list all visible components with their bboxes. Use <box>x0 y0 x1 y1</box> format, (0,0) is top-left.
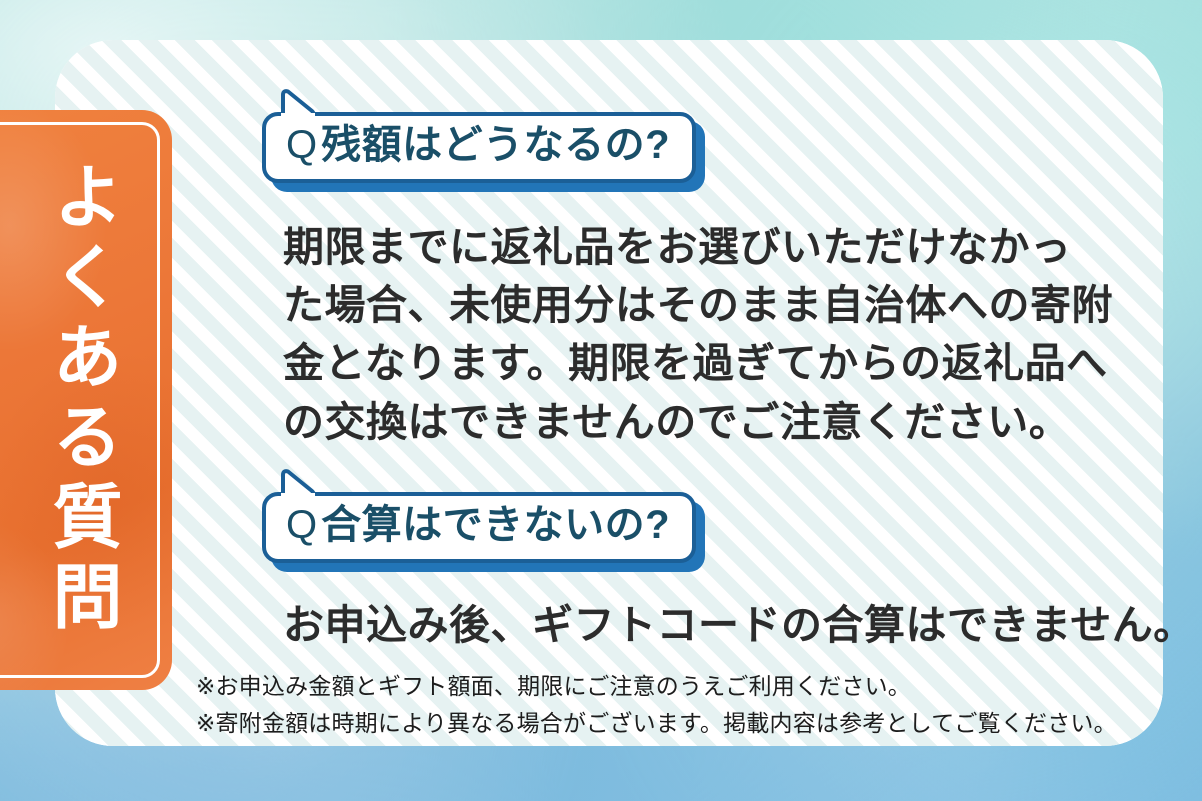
section-tab-label: よくある質問 <box>0 110 172 690</box>
question-text-1: Q残額はどうなるの? <box>286 123 670 168</box>
faq-item-1: Q残額はどうなるの? <box>262 112 696 183</box>
bubble-body: Q残額はどうなるの? <box>262 112 696 183</box>
question-bubble-2: Q合算はできないの? <box>262 492 696 563</box>
section-tab: よくある質問 <box>0 110 172 690</box>
faq-item-2: Q合算はできないの? <box>262 492 696 563</box>
footnote-line: ※寄附金額は時期により異なる場合がございます。掲載内容は参考としてご覧ください。 <box>196 705 1117 742</box>
question-prefix: Q <box>286 123 321 167</box>
question-bubble-1: Q残額はどうなるの? <box>262 112 696 183</box>
speech-bubble-tail-icon <box>278 469 318 500</box>
faq-banner: よくある質問 Q残額はどうなるの? 期限までに返礼品をお選びいただけなかっ た場… <box>0 0 1202 801</box>
answer-text-1: 期限までに返礼品をお選びいただけなかっ た場合、未使用分はそのまま自治体への寄附… <box>283 218 1113 451</box>
question-label: 残額はどうなるの? <box>321 123 670 167</box>
footnote-line: ※お申込み金額とギフト額面、期限にご注意のうえご利用ください。 <box>196 668 1117 705</box>
footnotes: ※お申込み金額とギフト額面、期限にご注意のうえご利用ください。 ※寄附金額は時期… <box>196 668 1117 743</box>
speech-bubble-tail-icon <box>278 89 318 120</box>
answer-text-2: お申込み後、ギフトコードの合算はできません。 <box>283 596 1195 654</box>
bubble-body: Q合算はできないの? <box>262 492 696 563</box>
question-text-2: Q合算はできないの? <box>286 503 670 548</box>
question-label: 合算はできないの? <box>321 503 670 547</box>
question-prefix: Q <box>286 503 321 547</box>
